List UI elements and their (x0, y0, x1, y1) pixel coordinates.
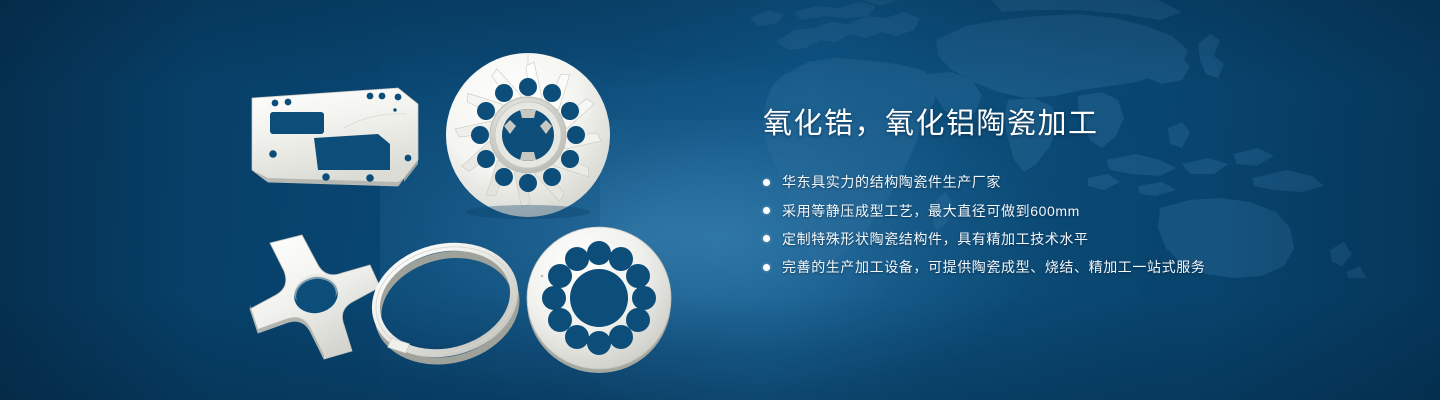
vaned-impeller-disc-icon (430, 40, 630, 230)
bullet-dot-icon (763, 235, 770, 242)
list-item-label: 采用等静压成型工艺，最大直径可做到600mm (782, 201, 1080, 221)
ceramic-valve-plate-part (515, 218, 685, 378)
list-item-label: 华东具实力的结构陶瓷件生产厂家 (782, 172, 1001, 192)
page-title: 氧化锆，氧化铝陶瓷加工 (763, 106, 1383, 142)
list-item: 采用等静压成型工艺，最大直径可做到600mm (763, 201, 1383, 221)
list-item-label: 定制特殊形状陶瓷结构件，具有精加工技术水平 (782, 229, 1089, 249)
ceramic-products-photo-group (230, 40, 700, 380)
multi-hole-valve-plate-icon (515, 218, 685, 378)
bullet-dot-icon (763, 264, 770, 271)
ceramic-plate-part (248, 82, 428, 192)
bullet-dot-icon (763, 179, 770, 186)
thin-ring-icon (350, 228, 540, 373)
list-item: 华东具实力的结构陶瓷件生产厂家 (763, 172, 1383, 192)
list-item: 完善的生产加工设备，可提供陶瓷成型、烧结、精加工一站式服务 (763, 257, 1383, 277)
ceramic-impeller-part (430, 40, 630, 230)
banner-text-block: 氧化锆，氧化铝陶瓷加工 华东具实力的结构陶瓷件生产厂家 采用等静压成型工艺，最大… (763, 106, 1383, 277)
bullet-dot-icon (763, 207, 770, 214)
list-item-label: 完善的生产加工设备，可提供陶瓷成型、烧结、精加工一站式服务 (782, 257, 1205, 277)
list-item: 定制特殊形状陶瓷结构件，具有精加工技术水平 (763, 229, 1383, 249)
ceramic-processing-banner: 氧化锆，氧化铝陶瓷加工 华东具实力的结构陶瓷件生产厂家 采用等静压成型工艺，最大… (0, 0, 1440, 400)
feature-list: 华东具实力的结构陶瓷件生产厂家 采用等静压成型工艺，最大直径可做到600mm 定… (763, 172, 1383, 277)
rectangular-ceramic-plate-icon (248, 82, 428, 192)
ceramic-ring-part (350, 228, 540, 373)
